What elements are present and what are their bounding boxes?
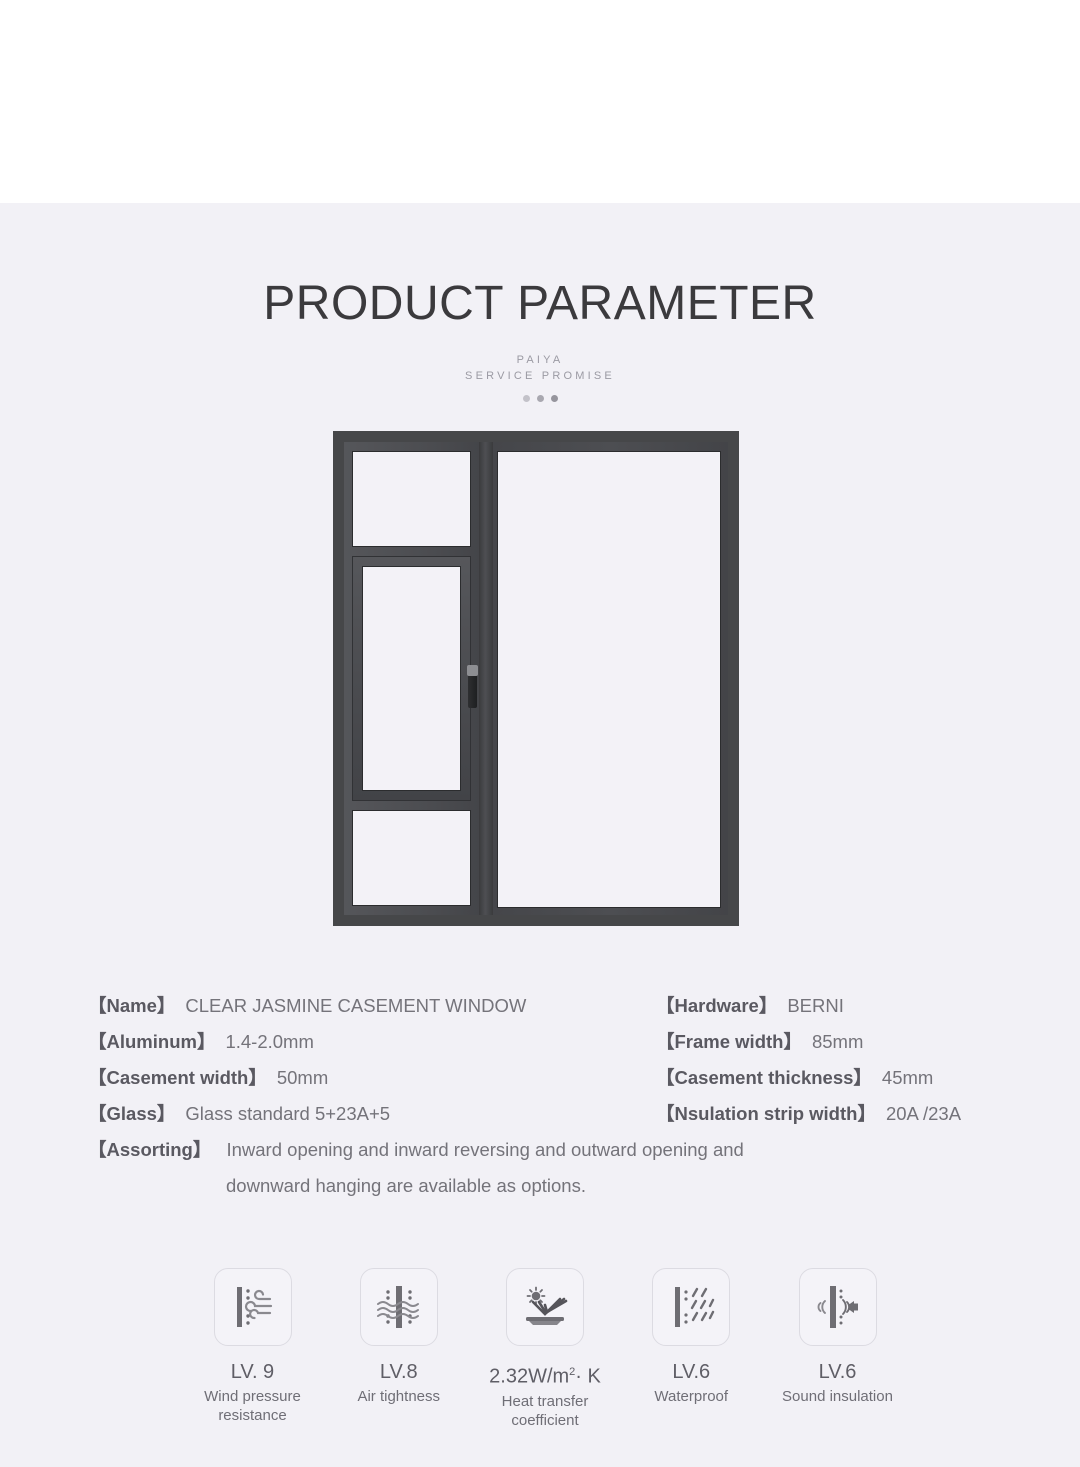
spec-key: 【Nsulation strip width】 [656, 1096, 876, 1132]
spec-value: 1.4-2.0mm [225, 1024, 313, 1060]
feature-label-line1: Heat transfer [473, 1392, 618, 1411]
dot-1 [523, 395, 530, 402]
spec-name: 【Name】 CLEAR JASMINE CASEMENT WINDOW [88, 988, 656, 1024]
spec-row: 【Name】 CLEAR JASMINE CASEMENT WINDOW 【Ha… [88, 988, 992, 1024]
feature-label: Wind pressure resistance [180, 1387, 325, 1425]
spec-assorting: 【Assorting】 Inward opening and inward re… [88, 1132, 992, 1204]
feature-label-line1: Sound insulation [765, 1387, 910, 1406]
feature-label-line1: Wind pressure [180, 1387, 325, 1406]
feature-label-line2: coefficient [473, 1411, 618, 1430]
subtitle-block: PAIYA SERVICE PROMISE [0, 352, 1080, 384]
spec-casement-width: 【Casement width】 50mm [88, 1060, 656, 1096]
spec-value: BERNI [787, 988, 844, 1024]
feature-value: LV.6 [619, 1359, 764, 1385]
spec-key: 【Glass】 [88, 1096, 175, 1132]
spec-row: 【Aluminum】 1.4-2.0mm 【Frame width】 85mm [88, 1024, 992, 1060]
spec-value-continued: downward hanging are available as option… [88, 1168, 992, 1204]
spec-insulation-strip-width: 【Nsulation strip width】 20A /23A [656, 1096, 992, 1132]
window-right-column [493, 442, 728, 915]
feature-label-line1: Air tightness [326, 1387, 471, 1406]
right-fixed-pane [497, 451, 721, 908]
promise-line: SERVICE PROMISE [0, 368, 1080, 384]
spec-value: Glass standard 5+23A+5 [185, 1096, 390, 1132]
feature-row: LV. 9 Wind pressure resistance [180, 1268, 910, 1430]
spec-value: 50mm [277, 1060, 328, 1096]
heat-transfer-icon [506, 1268, 584, 1346]
spec-casement-thickness: 【Casement thickness】 45mm [656, 1060, 992, 1096]
window-left-column [344, 442, 479, 915]
spec-value: 45mm [882, 1060, 933, 1096]
spec-key: 【Aluminum】 [88, 1024, 215, 1060]
window-frame [344, 442, 728, 915]
spec-value: Inward opening and inward reversing and … [226, 1139, 743, 1160]
spec-glass: 【Glass】 Glass standard 5+23A+5 [88, 1096, 656, 1132]
casement-sash-glass [362, 566, 461, 791]
top-fixed-pane [352, 451, 471, 547]
page-title: PRODUCT PARAMETER [0, 272, 1080, 336]
air-tightness-icon [360, 1268, 438, 1346]
brand-line: PAIYA [0, 352, 1080, 368]
spec-key: 【Casement width】 [88, 1060, 267, 1096]
feature-label: Sound insulation [765, 1387, 910, 1406]
product-parameter-page: PRODUCT PARAMETER PAIYA SERVICE PROMISE [0, 0, 1080, 1467]
window-mullion [479, 442, 493, 915]
feature-wind-pressure: LV. 9 Wind pressure resistance [180, 1268, 325, 1430]
waterproof-icon [652, 1268, 730, 1346]
spec-key: 【Name】 [88, 988, 175, 1024]
feature-value: LV.8 [326, 1359, 471, 1385]
sound-insulation-icon [799, 1268, 877, 1346]
spec-aluminum: 【Aluminum】 1.4-2.0mm [88, 1024, 656, 1060]
decorative-dots [0, 395, 1080, 402]
spec-key: 【Casement thickness】 [656, 1060, 872, 1096]
bottom-fixed-pane [352, 810, 471, 906]
feature-label: Air tightness [326, 1387, 471, 1406]
spec-value: 85mm [812, 1024, 863, 1060]
spec-value: 20A /23A [886, 1096, 961, 1132]
spec-hardware: 【Hardware】 BERNI [656, 988, 992, 1024]
feature-value-prefix: 2.32W/m [489, 1366, 569, 1388]
spec-value: CLEAR JASMINE CASEMENT WINDOW [185, 988, 526, 1024]
spec-frame-width: 【Frame width】 85mm [656, 1024, 992, 1060]
wind-pressure-icon [214, 1268, 292, 1346]
feature-sound-insulation: LV.6 Sound insulation [765, 1268, 910, 1430]
window-handle-icon [468, 674, 477, 708]
feature-value: LV.6 [765, 1359, 910, 1385]
page-header: PRODUCT PARAMETER PAIYA SERVICE PROMISE [0, 272, 1080, 402]
spec-row: 【Glass】 Glass standard 5+23A+5 【Nsulatio… [88, 1096, 992, 1132]
feature-value: 2.32W/m2· K [473, 1359, 618, 1390]
spec-key: 【Assorting】 [88, 1139, 211, 1160]
spec-row: 【Casement width】 50mm 【Casement thicknes… [88, 1060, 992, 1096]
spec-key: 【Frame width】 [656, 1024, 802, 1060]
feature-label: Waterproof [619, 1387, 764, 1406]
dot-3 [551, 395, 558, 402]
feature-air-tightness: LV.8 Air tightness [326, 1268, 471, 1430]
feature-value: LV. 9 [180, 1359, 325, 1385]
feature-label-line2: resistance [180, 1406, 325, 1425]
feature-heat-transfer: 2.32W/m2· K Heat transfer coefficient [473, 1268, 618, 1430]
dot-2 [537, 395, 544, 402]
feature-label-line1: Waterproof [619, 1387, 764, 1406]
product-window-image [333, 431, 739, 926]
casement-sash [352, 556, 471, 801]
feature-value-suffix: · K [575, 1366, 601, 1388]
specification-list: 【Name】 CLEAR JASMINE CASEMENT WINDOW 【Ha… [88, 988, 992, 1204]
feature-waterproof: LV.6 Waterproof [619, 1268, 764, 1430]
feature-label: Heat transfer coefficient [473, 1392, 618, 1430]
spec-key: 【Hardware】 [656, 988, 777, 1024]
